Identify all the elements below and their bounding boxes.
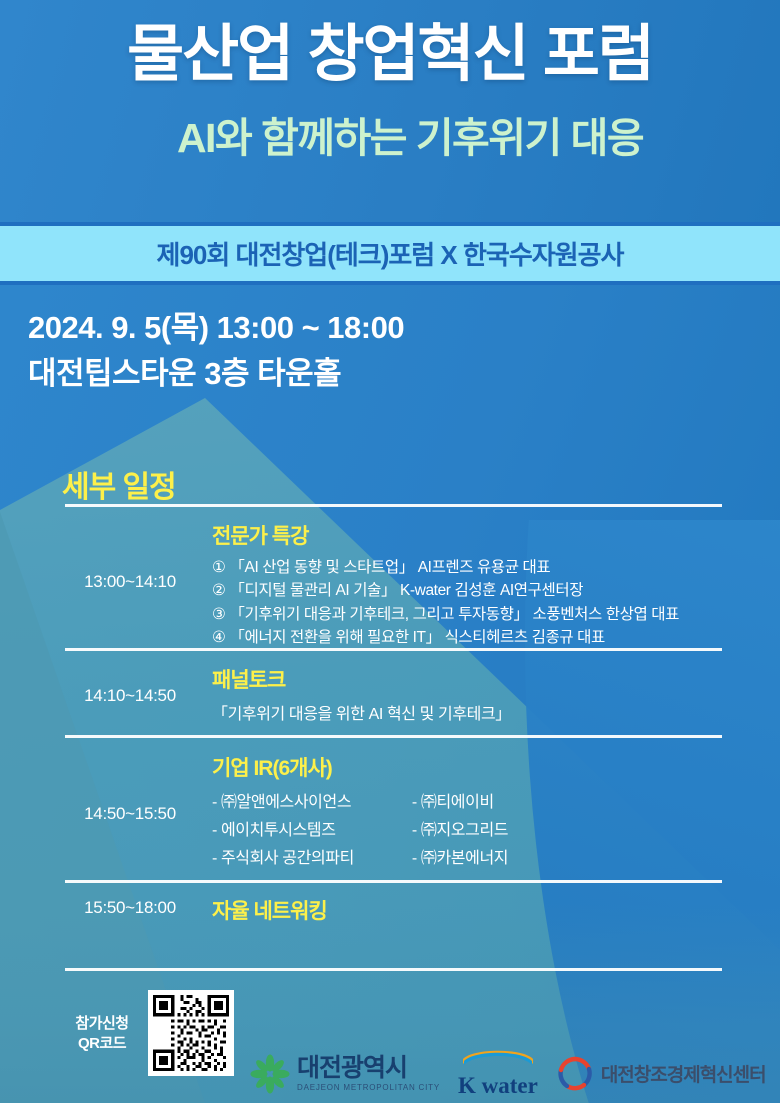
qr-code-label: 참가신청 QR코드 bbox=[62, 1014, 142, 1055]
schedule-divider-4 bbox=[65, 880, 722, 883]
list-item: - ㈜지오그리드 bbox=[412, 816, 508, 840]
logo-kwater-name: K water bbox=[458, 1074, 538, 1097]
logo-dcci-name: 대전창조경제혁신센터 bbox=[601, 1060, 766, 1087]
ribbon-banner: 제90회 대전창업(테크)포럼 X 한국수자원공사 bbox=[0, 222, 780, 285]
schedule-line: ② 「디지털 물관리 AI 기술」 K-water 김성훈 AI연구센터장 bbox=[212, 579, 772, 602]
schedule-heading: 패널토크 bbox=[212, 664, 772, 694]
sponsor-logos: 대전광역시 DAEJEON METROPOLITAN CITY K water bbox=[250, 1046, 770, 1101]
schedule-section-title: 세부 일정 bbox=[62, 462, 176, 506]
schedule-heading: 기업 IR(6개사) bbox=[212, 752, 772, 782]
schedule-divider-5 bbox=[65, 968, 722, 971]
dcci-ring-icon bbox=[556, 1055, 594, 1093]
page-subtitle: AI와 함께하는 기후위기 대응 bbox=[0, 118, 780, 159]
schedule-time: 13:00~14:10 bbox=[60, 572, 200, 592]
schedule-line: ③ 「기후위기 대응과 기후테크, 그리고 투자동향」 소풍벤처스 한상엽 대표 bbox=[212, 603, 772, 626]
schedule-heading: 자율 네트워킹 bbox=[212, 895, 772, 925]
page-title: 물산업 창업혁신 포럼 bbox=[0, 24, 780, 86]
event-poster: 물산업 창업혁신 포럼 AI와 함께하는 기후위기 대응 제90회 대전창업(테… bbox=[0, 0, 780, 1103]
event-datetime: 2024. 9. 5(목) 13:00 ~ 18:00 bbox=[28, 302, 404, 347]
logo-dcci: 대전창조경제혁신센터 bbox=[556, 1055, 766, 1093]
kwater-arc-icon bbox=[461, 1050, 535, 1066]
ir-company-columns: - ㈜알앤에스사이언스 - 에이치투시스템즈 - 주식회사 공간의파티 - ㈜티… bbox=[212, 788, 772, 868]
list-item: - ㈜카본에너지 bbox=[412, 844, 508, 868]
poster-header: 물산업 창업혁신 포럼 AI와 함께하는 기후위기 대응 bbox=[0, 0, 780, 222]
logo-daejeon-name: 대전광역시 bbox=[297, 1056, 440, 1081]
schedule-divider-3 bbox=[65, 735, 722, 738]
logo-daejeon-english: DAEJEON METROPOLITAN CITY bbox=[297, 1084, 440, 1092]
schedule-heading: 전문가 특강 bbox=[212, 520, 772, 550]
list-item: - ㈜티에이비 bbox=[412, 788, 508, 812]
daejeon-flower-icon bbox=[250, 1054, 290, 1094]
qr-label-line-1: 참가신청 bbox=[75, 1015, 128, 1032]
schedule-time: 15:50~18:00 bbox=[60, 898, 200, 918]
qr-label-line-2: QR코드 bbox=[78, 1035, 126, 1052]
qr-code-icon bbox=[153, 995, 229, 1071]
ribbon-label: 제90회 대전창업(테크)포럼 X 한국수자원공사 bbox=[157, 235, 624, 272]
logo-daejeon-city: 대전광역시 DAEJEON METROPOLITAN CITY bbox=[250, 1054, 440, 1094]
ir-company-column-left: - ㈜알앤에스사이언스 - 에이치투시스템즈 - 주식회사 공간의파티 bbox=[212, 788, 354, 868]
qr-code[interactable] bbox=[148, 990, 234, 1076]
schedule-time: 14:10~14:50 bbox=[60, 686, 200, 706]
schedule-line: ④ 「에너지 전환을 위해 필요한 IT」 식스티헤르츠 김종규 대표 bbox=[212, 626, 772, 649]
list-item: - 주식회사 공간의파티 bbox=[212, 844, 354, 868]
schedule-line: 「기후위기 대응을 위한 AI 혁신 및 기후테크」 bbox=[212, 700, 772, 724]
ir-company-column-right: - ㈜티에이비 - ㈜지오그리드 - ㈜카본에너지 bbox=[412, 788, 508, 868]
list-item: - ㈜알앤에스사이언스 bbox=[212, 788, 354, 812]
schedule-time: 14:50~15:50 bbox=[60, 804, 200, 824]
logo-kwater: K water bbox=[458, 1050, 538, 1097]
event-venue: 대전팁스타운 3층 타운홀 bbox=[28, 348, 341, 393]
schedule-line: ① 「AI 산업 동향 및 스타트업」 AI프렌즈 유용균 대표 bbox=[212, 556, 772, 579]
schedule-divider-1 bbox=[65, 504, 722, 507]
list-item: - 에이치투시스템즈 bbox=[212, 816, 354, 840]
